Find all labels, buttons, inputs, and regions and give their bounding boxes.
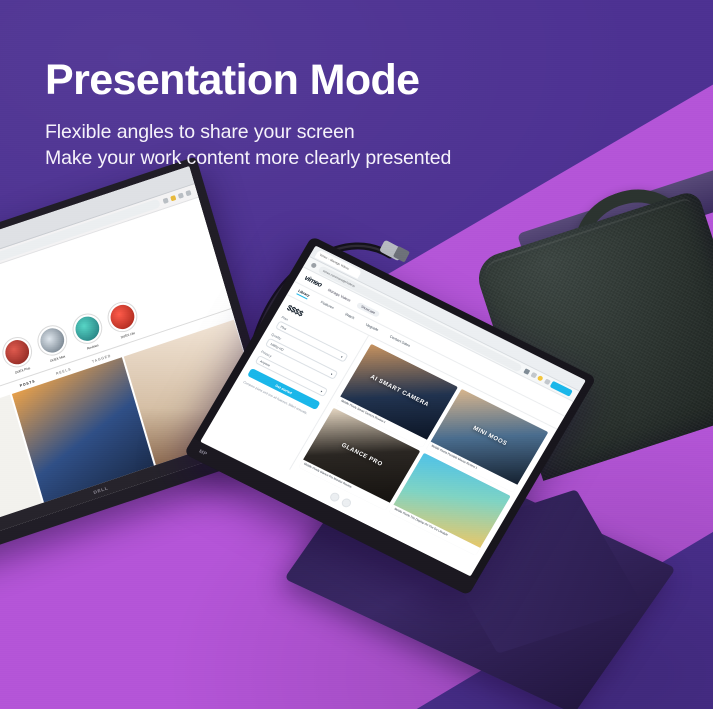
extension-icon-3[interactable]	[537, 375, 544, 382]
story-highlight[interactable]: DUEX Max	[34, 322, 73, 366]
chevron-down-icon: ▾	[320, 389, 323, 393]
video-overlay-title: GLANCE PRO	[337, 441, 386, 469]
extension-icon-4[interactable]	[543, 378, 550, 385]
kickstarter-logo: KICKSTARTER	[0, 455, 25, 495]
nav-watch[interactable]: Watch	[343, 312, 355, 322]
extension-icon-2[interactable]	[170, 195, 176, 201]
subtitle-line-1: Flexible angles to share your screen	[45, 120, 451, 146]
extension-icon-2[interactable]	[530, 372, 537, 379]
video-overlay-title	[450, 499, 455, 502]
video-overlay-title: MINI MOOS	[469, 424, 511, 449]
highlight-thumb	[73, 314, 103, 345]
quality-select-value: 1080p HD	[270, 342, 285, 352]
nav-library[interactable]: Library	[296, 289, 310, 300]
page-title: Presentation Mode	[45, 58, 451, 103]
story-highlight[interactable]: Reviews	[69, 310, 108, 354]
chevron-down-icon: ▾	[340, 354, 343, 358]
extension-icon-1[interactable]	[163, 198, 169, 204]
extension-icon-3[interactable]	[178, 192, 184, 198]
story-highlight[interactable]: DUEX Lite	[104, 298, 143, 342]
extension-icon-1[interactable]	[523, 368, 530, 375]
privacy-select-value: Anyone	[260, 359, 272, 367]
vimeo-logo: vimeo	[303, 275, 323, 289]
profile-avatar-icon[interactable]	[185, 190, 191, 196]
story-highlight[interactable]: DUEX Plus	[0, 333, 37, 377]
headline-block: Presentation Mode Flexible angles to sha…	[45, 58, 451, 172]
highlight-thumb	[38, 325, 68, 356]
subtitle-line-2: Make your work content more clearly pres…	[45, 146, 451, 172]
highlight-thumb	[2, 337, 32, 368]
subtitle-block: Flexible angles to share your screen Mak…	[45, 120, 451, 172]
nav-upgrade[interactable]: Upgrade	[364, 323, 379, 334]
video-overlay-title: AI SMART CAMERA	[366, 373, 432, 410]
portable-monitor-device: Vimeo – Manage Videos vimeo.com/manage/v…	[312, 236, 712, 656]
marketing-banner: Presentation Mode Flexible angles to sha…	[0, 0, 720, 709]
dell-logo: DELL	[93, 485, 109, 495]
right-frame-edge	[713, 0, 720, 709]
back-arrow-icon[interactable]	[310, 262, 317, 269]
highlight-thumb	[108, 302, 138, 333]
plan-select-value: Plus	[280, 324, 288, 330]
nav-features[interactable]: Features	[319, 300, 335, 312]
chevron-down-icon: ▾	[330, 372, 333, 376]
mobile-pixels-logo: MP	[198, 449, 209, 458]
